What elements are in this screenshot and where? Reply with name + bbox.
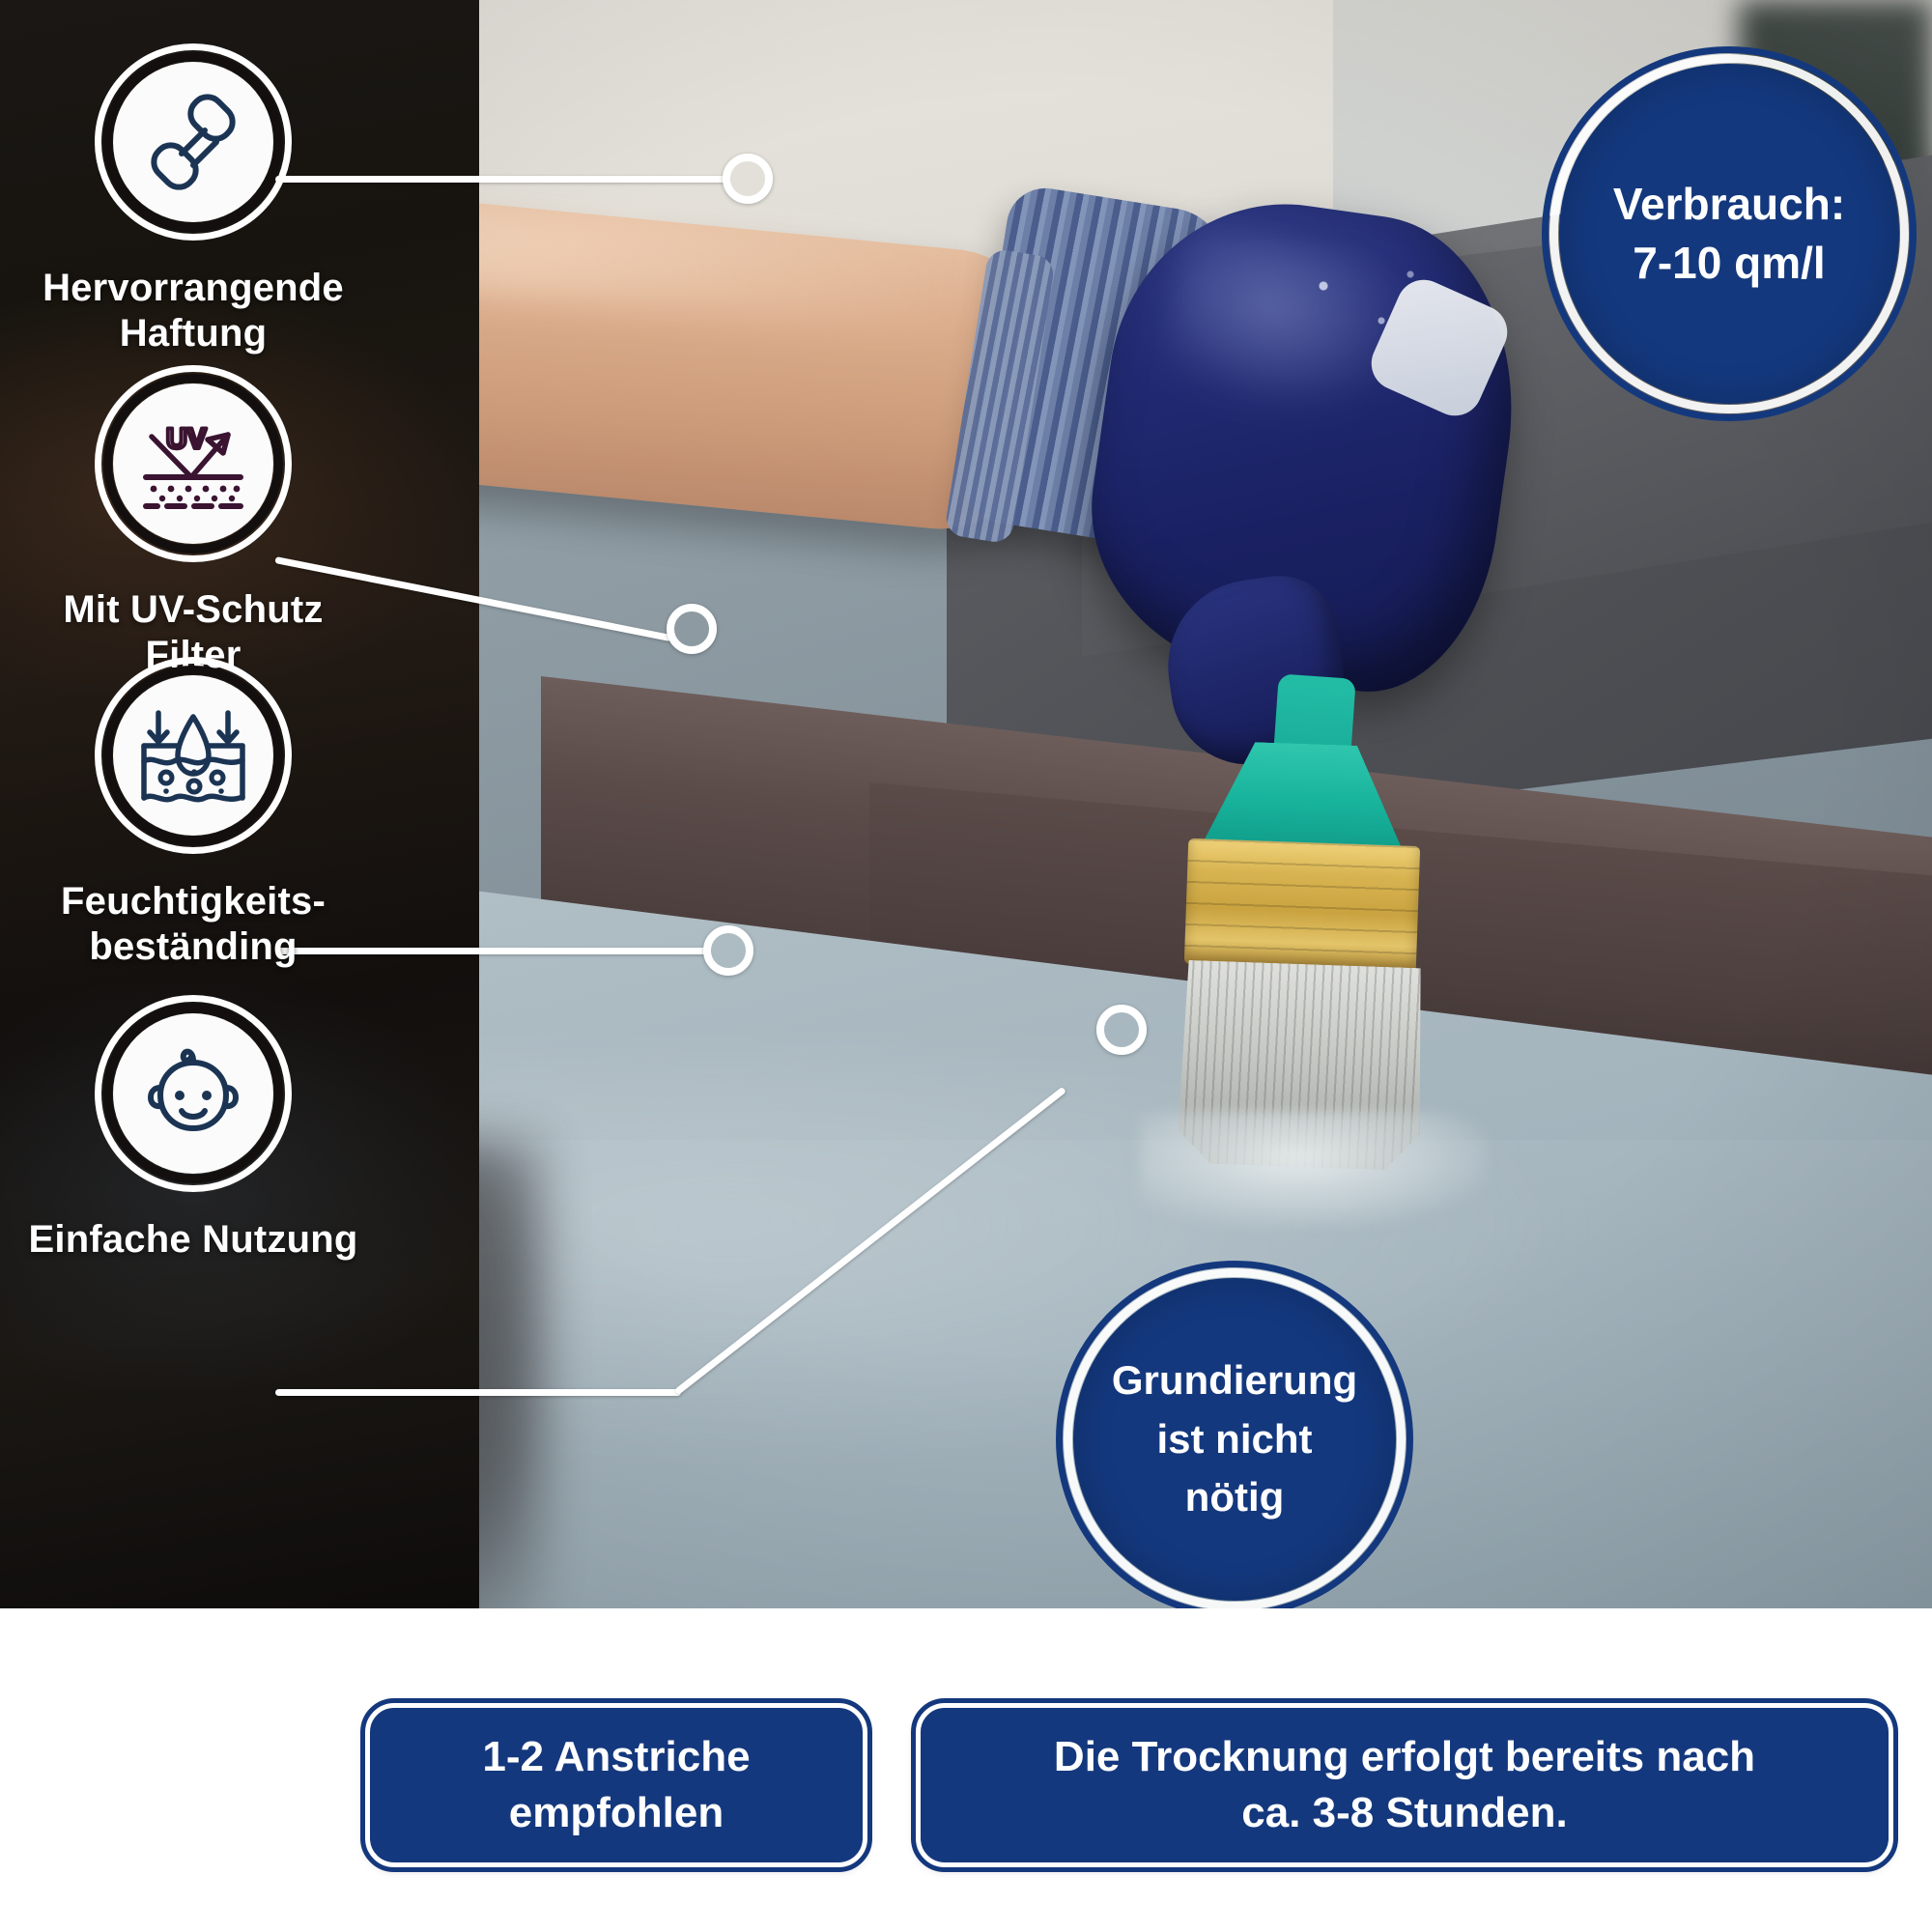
water-drop-surface-icon (134, 701, 252, 810)
chain-link-icon (139, 88, 247, 196)
pill-line1: Die Trocknung erfolgt bereits nach (1054, 1729, 1755, 1785)
feature-label-line1: Einfache Nutzung (0, 1217, 386, 1263)
pill-coats[interactable]: 1-2 Anstriche empfohlen (365, 1703, 867, 1867)
feature-label-line1: Hervorrangende (0, 266, 386, 311)
icon-disc (113, 675, 273, 836)
connector-endpoint-ring (1096, 1005, 1147, 1055)
icon-disc (113, 62, 273, 222)
badge-line3: nötig (1112, 1468, 1357, 1527)
badge-fill: Verbrauch: 7-10 qm/l (1559, 64, 1899, 404)
connector-endpoint-ring (703, 925, 753, 976)
pill-line2: ca. 3-8 Stunden. (1054, 1785, 1755, 1841)
feature-label: Feuchtigkeits- beständing (0, 879, 386, 970)
pill-line2: empfohlen (482, 1785, 750, 1841)
feature-label-line2: Haftung (0, 311, 386, 356)
icon-disc (113, 1013, 273, 1174)
feature-icon-container: UV (95, 365, 292, 562)
uv-shield-icon: UV (136, 410, 250, 518)
connector-line (275, 1389, 681, 1396)
pill-text: 1-2 Anstriche empfohlen (482, 1729, 750, 1841)
feature-uv-protection[interactable]: UV (0, 365, 386, 678)
badge-consumption[interactable]: Verbrauch: 7-10 qm/l (1542, 46, 1917, 421)
footer-bar: HAMBURGER LACKPROFI (0, 1608, 1932, 1932)
pill-line1: 1-2 Anstriche (482, 1729, 750, 1785)
feature-label-line1: Mit UV-Schutz (0, 587, 386, 633)
feature-label: Einfache Nutzung (0, 1217, 386, 1263)
baby-face-icon (139, 1039, 247, 1148)
badge-no-primer[interactable]: Grundierung ist nicht nötig (1056, 1261, 1413, 1618)
badge-line2: 7-10 qm/l (1613, 234, 1845, 293)
svg-text:UV: UV (166, 423, 207, 455)
feature-label-line2: beständing (0, 924, 386, 970)
feature-icon-container (95, 995, 292, 1192)
feature-icon-container (95, 657, 292, 854)
pill-text: Die Trocknung erfolgt bereits nach ca. 3… (1054, 1729, 1755, 1841)
icon-disc: UV (113, 384, 273, 544)
feature-moisture-resistant[interactable]: Feuchtigkeits- beständing (0, 657, 386, 970)
feature-adhesion[interactable]: Hervorrangende Haftung (0, 43, 386, 356)
pill-drying-time[interactable]: Die Trocknung erfolgt bereits nach ca. 3… (916, 1703, 1893, 1867)
badge-text: Grundierung ist nicht nötig (1112, 1351, 1357, 1528)
badge-fill: Grundierung ist nicht nötig (1073, 1278, 1396, 1601)
feature-easy-use[interactable]: Einfache Nutzung (0, 995, 386, 1263)
badge-line1: Grundierung (1112, 1351, 1357, 1410)
infographic-canvas: Hervorrangende Haftung UV (0, 0, 1932, 1932)
connector-endpoint-ring (667, 604, 717, 654)
feature-icon-container (95, 43, 292, 241)
badge-text: Verbrauch: 7-10 qm/l (1613, 175, 1845, 292)
badge-line1: Verbrauch: (1613, 175, 1845, 234)
feature-label: Hervorrangende Haftung (0, 266, 386, 356)
badge-line2: ist nicht (1112, 1410, 1357, 1469)
connector-endpoint-ring (723, 154, 773, 204)
feature-label-line1: Feuchtigkeits- (0, 879, 386, 924)
